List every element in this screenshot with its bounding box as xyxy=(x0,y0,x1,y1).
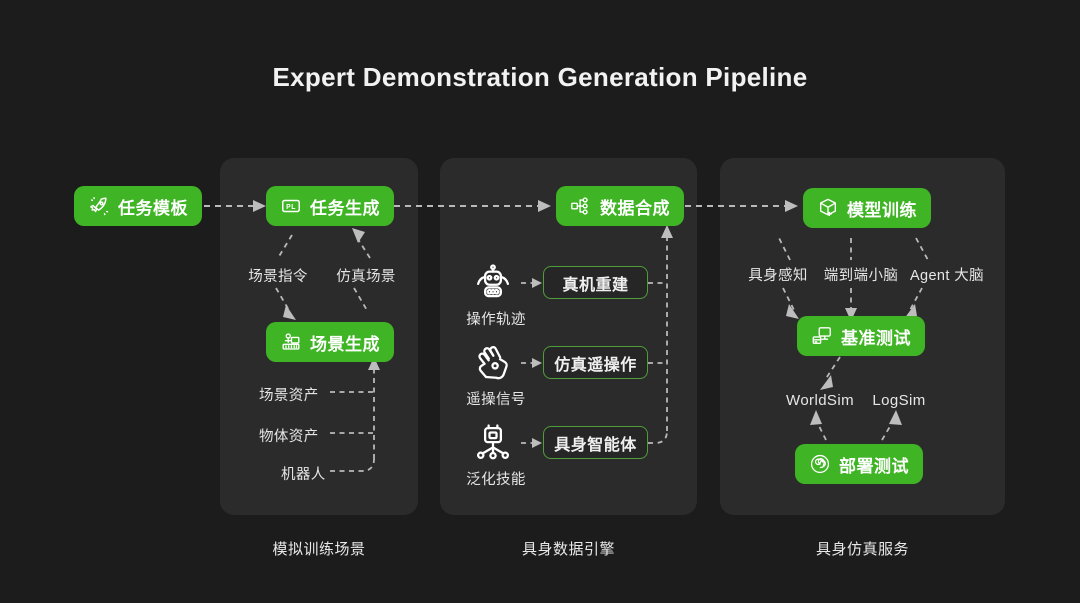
svg-text:PL: PL xyxy=(286,204,296,211)
node-task-generation[interactable]: PL 任务生成 xyxy=(266,186,394,226)
node-label: 任务生成 xyxy=(310,194,380,219)
caption-panel-2: 具身数据引擎 xyxy=(440,538,697,559)
label-worldsim: WorldSim xyxy=(786,392,854,409)
node-deployment-test[interactable]: 部署测试 xyxy=(795,444,923,484)
rocket-icon xyxy=(88,195,110,217)
pl-frame-icon: PL xyxy=(280,195,302,217)
node-model-training[interactable]: 模型训练 xyxy=(803,188,931,228)
scene-robot-icon xyxy=(280,331,302,353)
box-embodied-agent[interactable]: 具身智能体 xyxy=(543,426,648,459)
glove-icon xyxy=(472,342,514,384)
node-label: 基准测试 xyxy=(841,324,911,349)
node-label: 部署测试 xyxy=(839,452,909,477)
label-teleoperation-signal: 遥操信号 xyxy=(466,388,526,409)
node-scene-generation[interactable]: 场景生成 xyxy=(266,322,394,362)
cube-retrain-icon xyxy=(817,197,839,219)
label-embodied-perception: 具身感知 xyxy=(748,264,808,285)
label-end-to-end-cerebellum: 端到端小脑 xyxy=(824,264,899,285)
label-generalization-skill: 泛化技能 xyxy=(466,468,526,489)
data-merge-icon xyxy=(570,195,592,217)
page-title: Expert Demonstration Generation Pipeline xyxy=(0,62,1080,93)
label-scene-instruction: 场景指令 xyxy=(248,265,308,286)
node-label: 任务模板 xyxy=(118,194,188,219)
label-robot: 机器人 xyxy=(281,463,326,484)
diagram-canvas: Expert Demonstration Generation Pipeline xyxy=(0,0,1080,603)
node-label: 数据合成 xyxy=(600,194,670,219)
node-benchmark-test[interactable]: 基准测试 xyxy=(797,316,925,356)
box-real-machine-reconstruction[interactable]: 真机重建 xyxy=(543,266,648,299)
monitor-icon xyxy=(811,325,833,347)
label-operation-trajectory: 操作轨迹 xyxy=(466,308,526,329)
caption-panel-3: 具身仿真服务 xyxy=(720,538,1005,559)
label-logsim: LogSim xyxy=(872,392,925,409)
node-data-synthesis[interactable]: 数据合成 xyxy=(556,186,684,226)
label-object-asset: 物体资产 xyxy=(259,425,319,446)
label-simulation-scene: 仿真场景 xyxy=(336,265,396,286)
caption-panel-1: 模拟训练场景 xyxy=(220,538,418,559)
label-scene-asset: 场景资产 xyxy=(259,384,319,405)
agent-chip-icon xyxy=(472,422,514,464)
box-simulated-teleoperation[interactable]: 仿真遥操作 xyxy=(543,346,648,379)
node-label: 场景生成 xyxy=(310,330,380,355)
node-label: 模型训练 xyxy=(847,196,917,221)
robot-icon xyxy=(472,262,514,304)
label-agent-brain: Agent 大脑 xyxy=(910,264,984,285)
node-task-template[interactable]: 任务模板 xyxy=(74,186,202,226)
swirl-icon xyxy=(809,453,831,475)
